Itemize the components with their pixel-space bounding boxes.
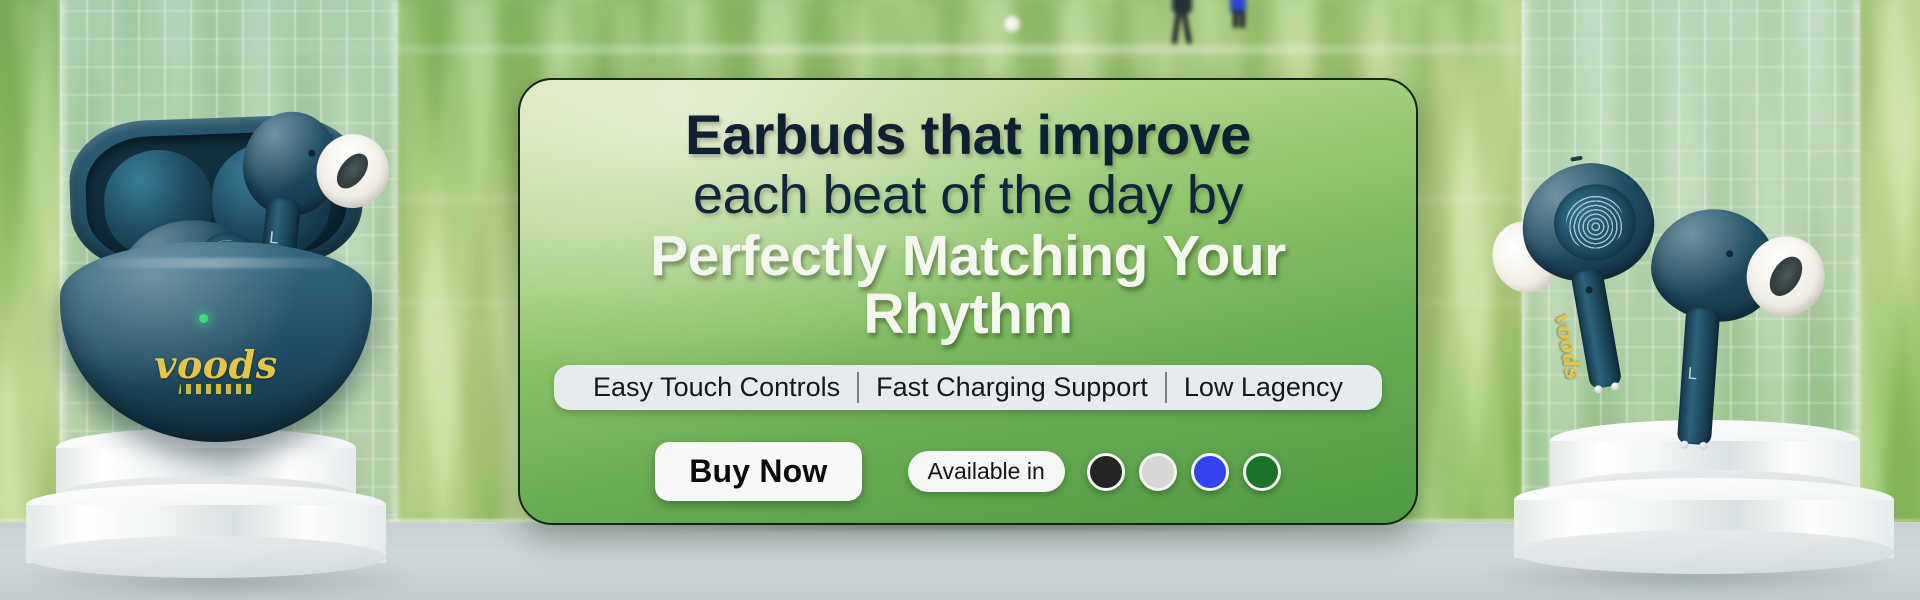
feature-fast-charging-support: Fast Charging Support — [859, 372, 1165, 403]
feature-low-lagency: Low Lagency — [1167, 372, 1360, 403]
charging-case-body: voods — [60, 242, 372, 442]
earbud-b-stem — [1677, 307, 1720, 445]
charging-led-indicator — [199, 314, 208, 323]
feature-easy-touch-controls: Easy Touch Controls — [576, 372, 857, 403]
earbud-b: L — [1637, 201, 1865, 485]
color-swatch-green[interactable] — [1243, 453, 1281, 491]
headline-line-2: each beat of the day by — [554, 168, 1382, 223]
earbud-a-mic — [1570, 156, 1583, 162]
pedestal-left-lower-tier — [26, 484, 386, 580]
color-swatch-group — [1087, 453, 1281, 491]
available-in-label: Available in — [908, 451, 1065, 492]
feature-pill-group: Easy Touch Controls Fast Charging Suppor… — [554, 365, 1382, 410]
color-swatch-black[interactable] — [1087, 453, 1125, 491]
product-banner: L voods — [0, 0, 1920, 600]
pedestal-right-lower-tier — [1514, 478, 1894, 574]
headline-line-1: Earbuds that improve — [554, 106, 1382, 163]
charging-case-product: L voods — [52, 110, 382, 455]
color-swatch-blue[interactable] — [1191, 453, 1229, 491]
background-player-a — [1168, 0, 1194, 44]
promo-card: Earbuds that improve each beat of the da… — [518, 78, 1418, 525]
earbud-b-left-marker: L — [1687, 364, 1698, 385]
background-ball — [1004, 16, 1020, 32]
fingerprint-icon — [1561, 190, 1629, 254]
brand-logo-case: voods — [154, 342, 277, 387]
headline-line-3: Perfectly Matching Your Rhythm — [554, 227, 1382, 343]
earbuds-pair-product: voods L — [1520, 150, 1850, 480]
cta-row: Buy Now Available in — [554, 442, 1382, 501]
feature-divider-2 — [1165, 372, 1167, 403]
buy-now-button[interactable]: Buy Now — [655, 442, 861, 501]
charging-case-seam — [97, 258, 334, 268]
brand-logo-underline — [156, 384, 276, 394]
color-swatch-silver[interactable] — [1139, 453, 1177, 491]
feature-divider-1 — [857, 372, 859, 403]
background-player-b — [1228, 0, 1250, 28]
